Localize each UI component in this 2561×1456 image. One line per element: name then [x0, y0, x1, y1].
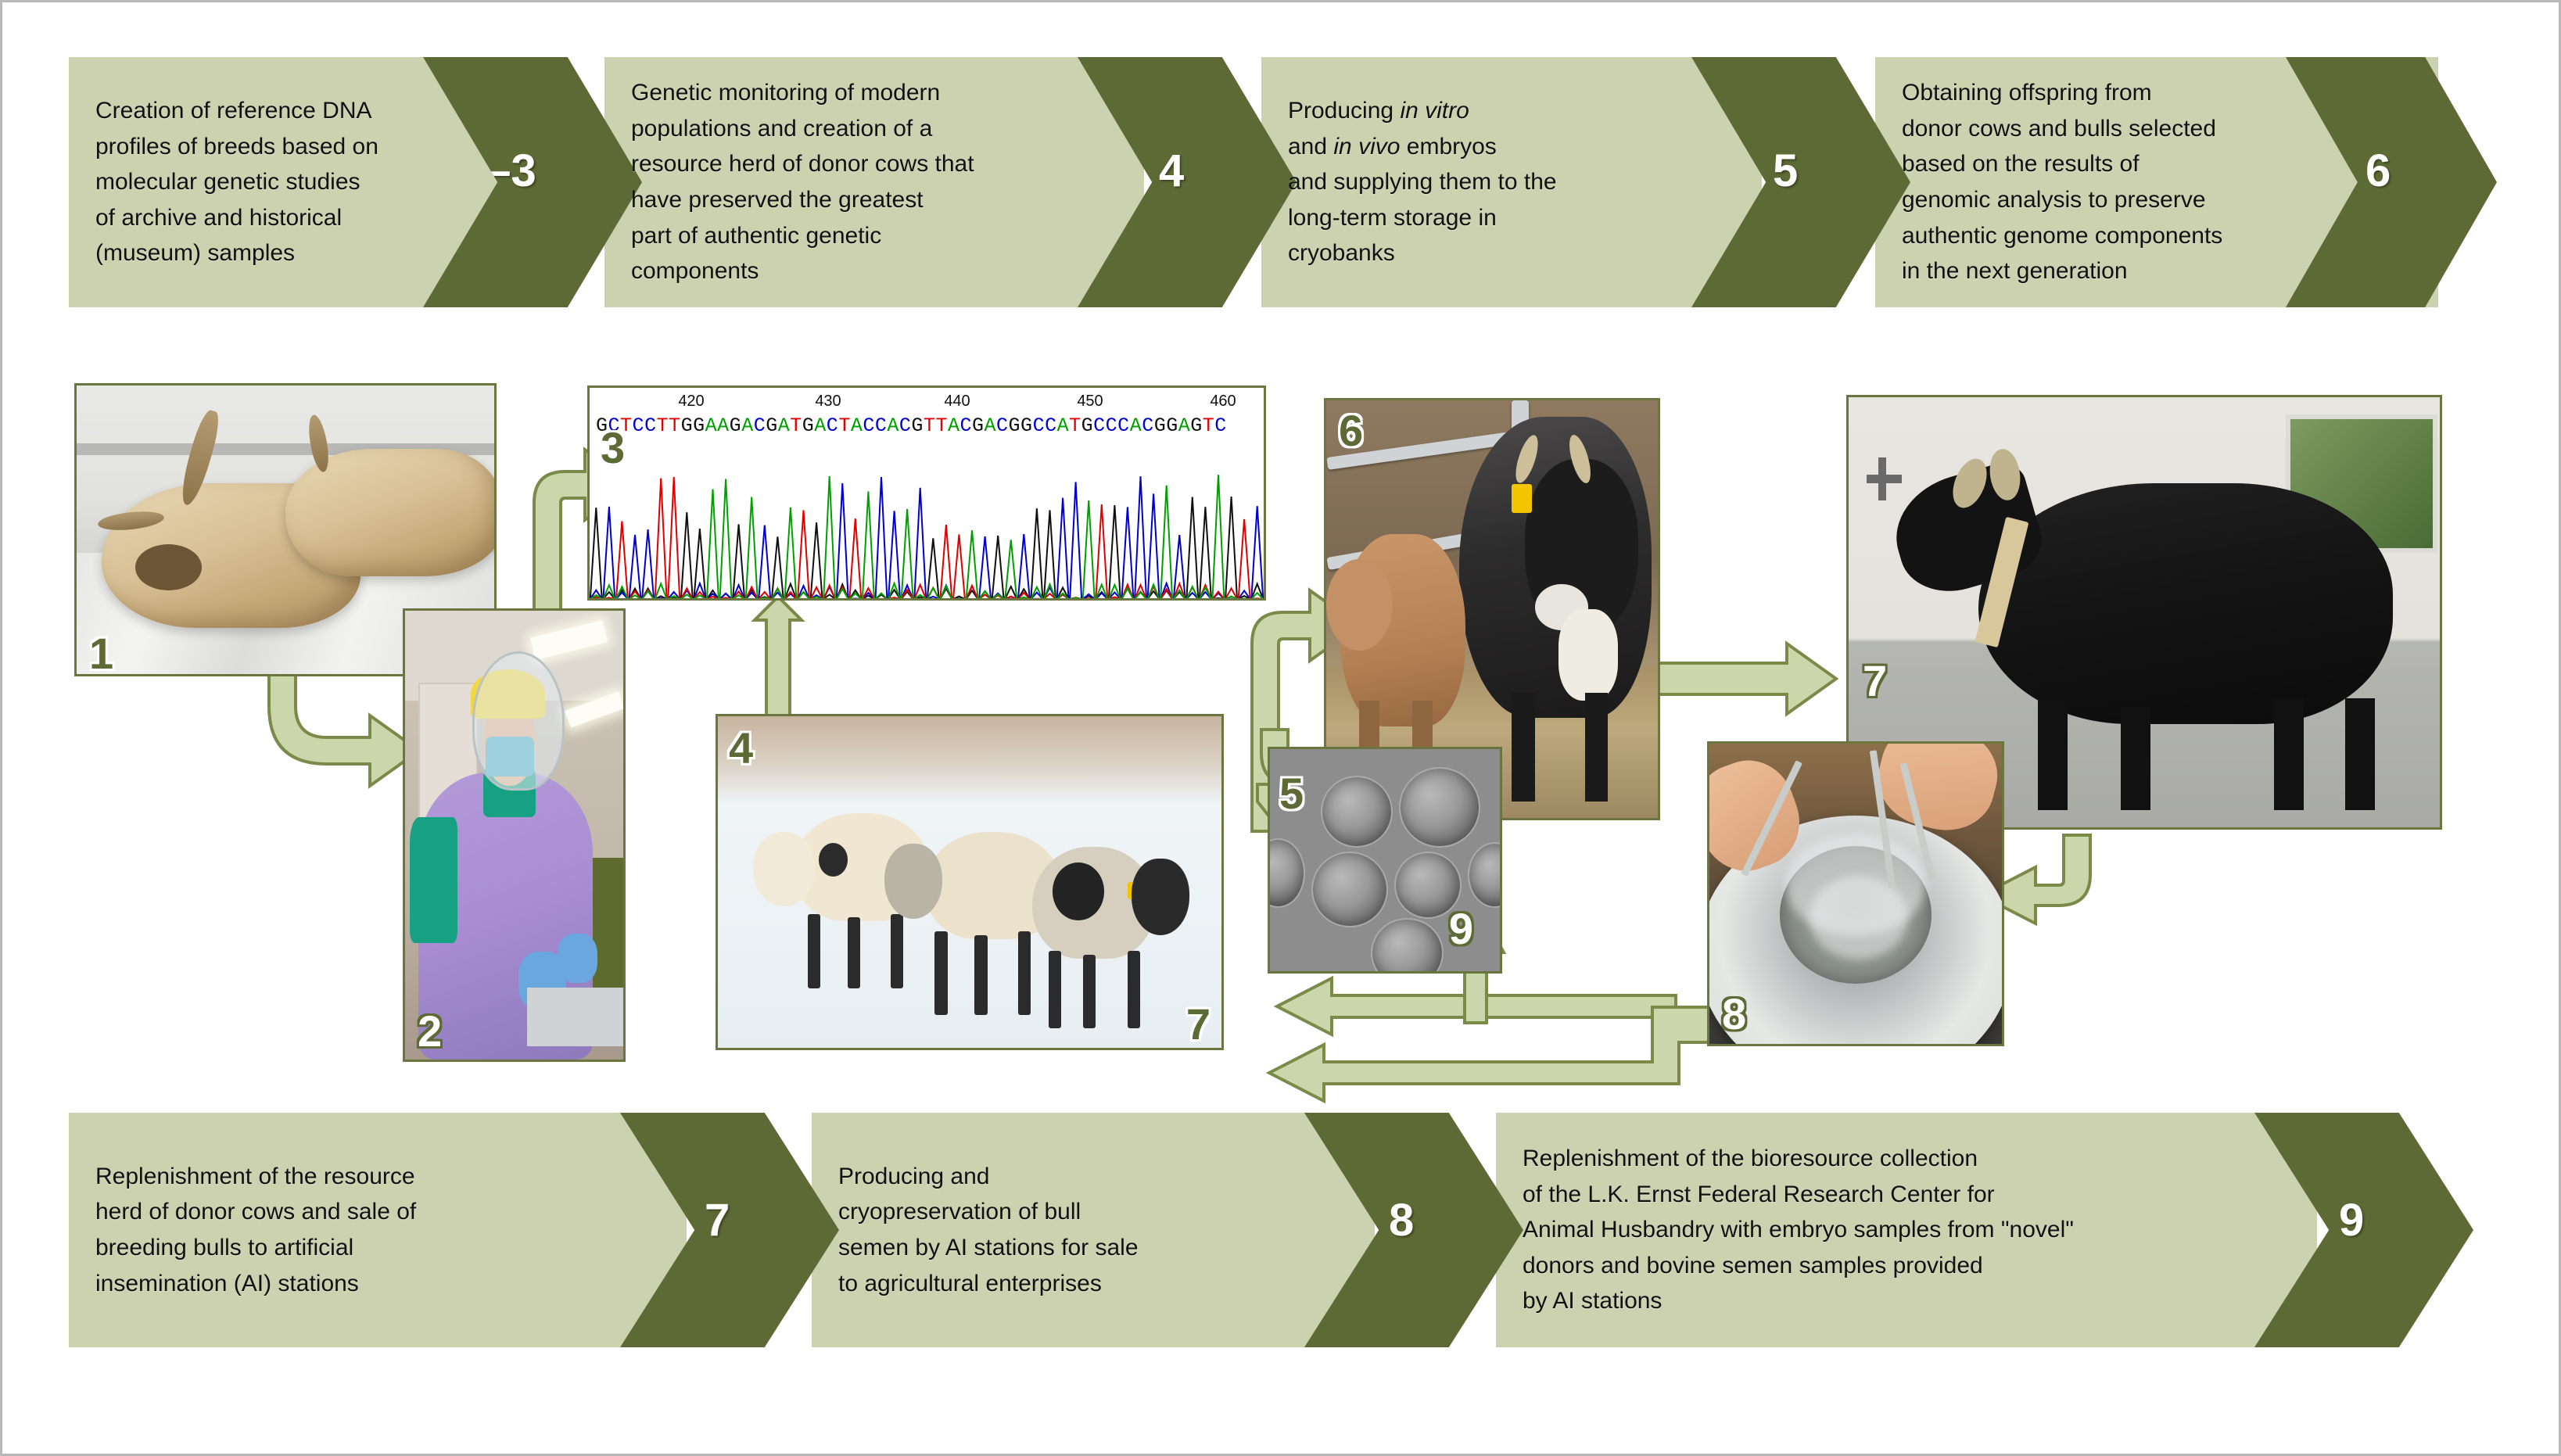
- photo-cryobank-dewar[interactable]: 8: [1707, 741, 2004, 1046]
- top-step-4-text: Obtaining offspring from donor cows and …: [1875, 75, 2222, 289]
- chrom-tick-420: 420: [678, 393, 704, 411]
- bottom-step-3-text: Replenishment of the bioresource collect…: [1496, 1141, 2074, 1319]
- photo-3-number: 3: [601, 422, 625, 473]
- photo-7-number: 7: [1863, 655, 1887, 706]
- bottom-step-3[interactable]: Replenishment of the bioresource collect…: [1496, 1113, 2317, 1347]
- chrom-tick-430: 430: [815, 393, 841, 411]
- photo-sequencing-chromatogram[interactable]: 420 430 440 450 460 GCTCCTTGGAAGACGATGAC…: [587, 386, 1266, 601]
- photo-5-inlink-number: 9: [1449, 903, 1473, 954]
- bottom-step-2-text: Producing and cryopreservation of bull s…: [812, 1159, 1139, 1301]
- bottom-step-1-number: 7: [705, 1194, 730, 1246]
- top-step-3[interactable]: Producing in vitro and in vivo embryos a…: [1261, 57, 1762, 307]
- top-step-2-number: 4: [1159, 145, 1184, 197]
- bottom-step-1-text: Replenishment of the resource herd of do…: [69, 1159, 416, 1301]
- bottom-step-1[interactable]: Replenishment of the resource herd of do…: [69, 1113, 687, 1347]
- chrom-tick-450: 450: [1077, 393, 1103, 411]
- lab-scene: [405, 611, 623, 1060]
- top-step-2[interactable]: Genetic monitoring of modern populations…: [604, 57, 1144, 307]
- top-step-1-text: Creation of reference DNA profiles of br…: [69, 93, 378, 271]
- cryo-scene: [1709, 744, 2002, 1044]
- chromatogram-traces: [590, 460, 1264, 599]
- photo-2-number: 2: [418, 1006, 442, 1056]
- photo-4-outlink-number: 7: [1186, 999, 1211, 1049]
- bottom-step-2[interactable]: Producing and cryopreservation of bull s…: [812, 1113, 1375, 1347]
- photo-snow-herd[interactable]: 4 7: [716, 714, 1224, 1050]
- cow-c: [1025, 836, 1196, 1028]
- photo-6-number: 6: [1339, 405, 1363, 456]
- photo-8-number: 8: [1722, 988, 1746, 1039]
- chromatogram-scene: 420 430 440 450 460 GCTCCTTGGAAGACGATGAC…: [590, 388, 1264, 598]
- top-step-2-text: Genetic monitoring of modern populations…: [604, 75, 974, 289]
- chromatogram-sequence: GCTCCTTGGAAGACGATGACTACCACGTTACGACGGCCAT…: [596, 414, 1261, 437]
- chrom-tick-440: 440: [944, 393, 970, 411]
- chrom-tick-460: 460: [1210, 393, 1236, 411]
- top-step-3-number: 5: [1773, 145, 1798, 197]
- photo-1-number: 1: [89, 628, 113, 676]
- bottom-step-2-number: 8: [1389, 1194, 1414, 1246]
- photo-embryos[interactable]: 5 9: [1268, 747, 1502, 974]
- photo-lab-researcher[interactable]: 2: [403, 608, 626, 1062]
- photo-5-number: 5: [1279, 768, 1304, 819]
- bottom-step-3-number: 9: [2339, 1194, 2364, 1246]
- photo-4-number: 4: [729, 723, 753, 773]
- top-step-3-text: Producing in vitro and in vivo embryos a…: [1261, 93, 1557, 271]
- infographic-page: Creation of reference DNA profiles of br…: [0, 0, 2561, 1456]
- snow-herd-scene: [718, 716, 1221, 1048]
- top-step-4-number: 6: [2366, 145, 2391, 197]
- chromatogram-tick-labels: 420 430 440 450 460: [590, 393, 1264, 413]
